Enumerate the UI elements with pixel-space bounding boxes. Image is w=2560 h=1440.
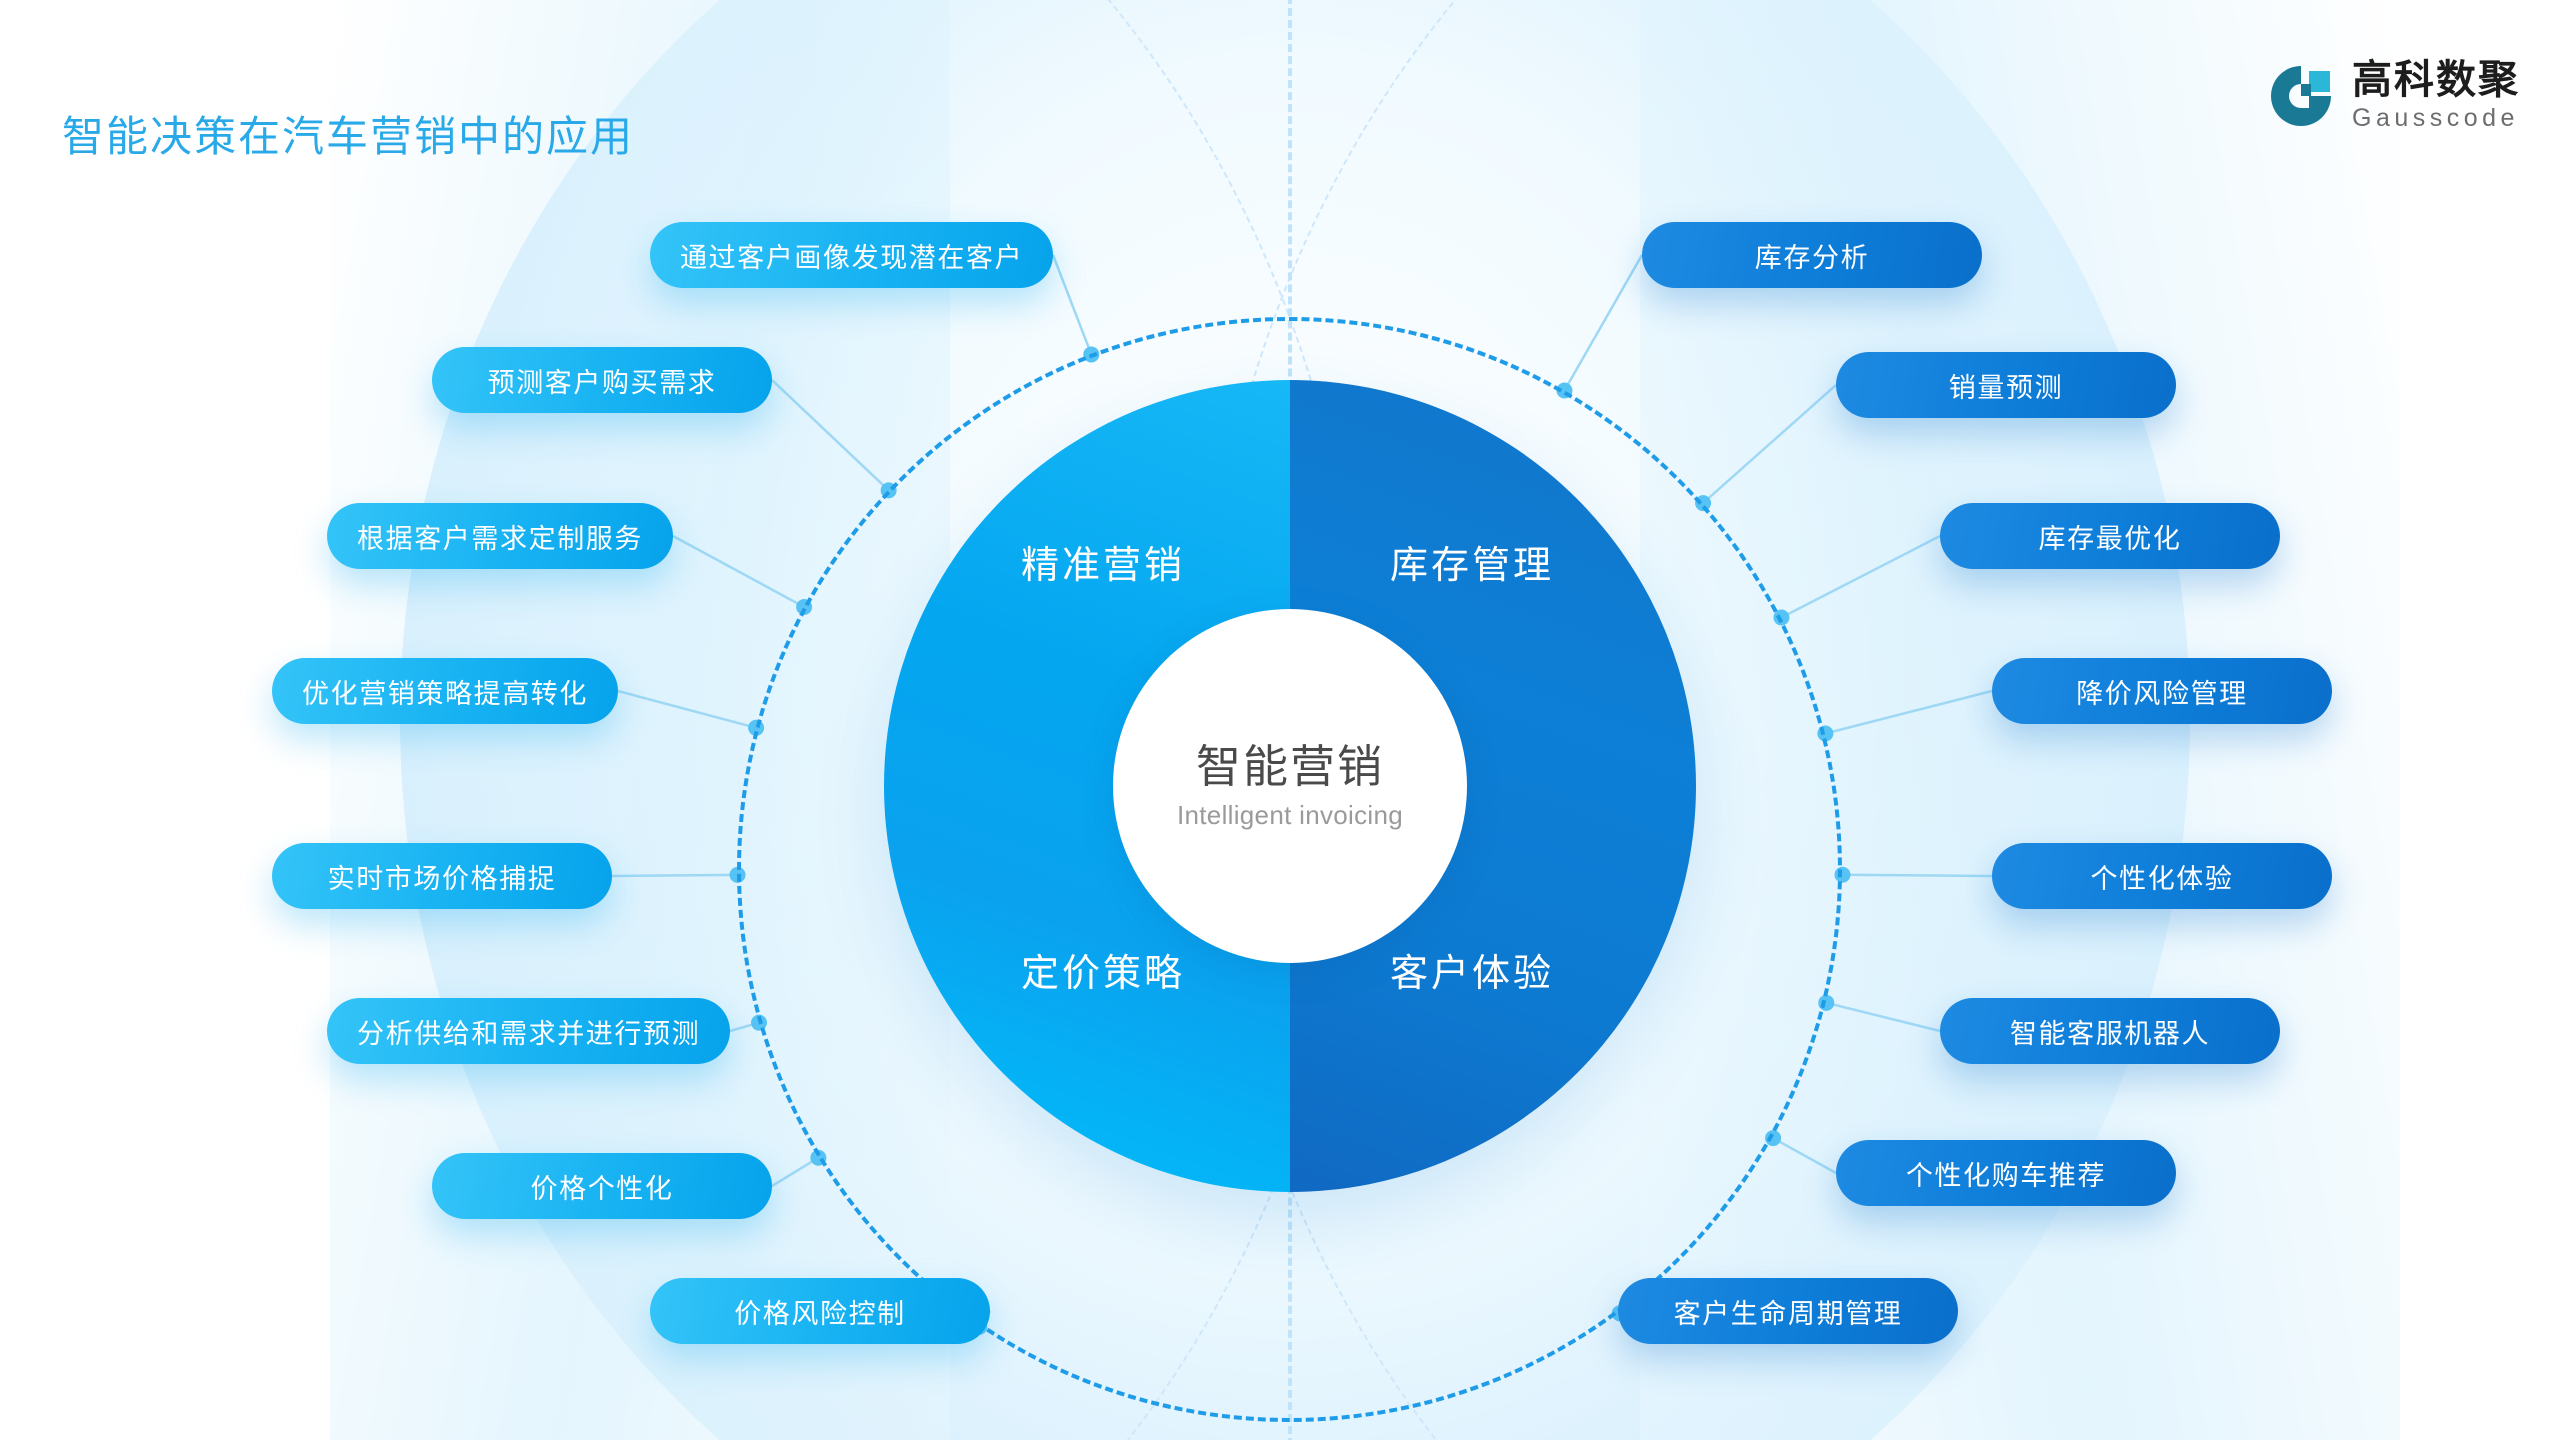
connector-line [618,691,756,728]
left-label-pill[interactable]: 分析供给和需求并进行预测 [327,998,730,1064]
pill-label: 库存分析 [1755,236,1869,275]
left-label-pill[interactable]: 根据客户需求定制服务 [327,503,673,569]
connector-line [1703,385,1836,503]
right-label-pill[interactable]: 库存分析 [1642,222,1982,288]
connector-line [612,875,738,876]
center-hub: 智能营销 Intelligent invoicing [1113,609,1467,963]
pill-label: 个性化体验 [2091,857,2234,896]
pill-label: 根据客户需求定制服务 [357,517,643,556]
connector-line [1842,875,1992,876]
pill-label: 实时市场价格捕捉 [328,857,557,896]
logo-name-en: Gausscode [2352,106,2520,131]
logo-text-block: 高科数聚 Gausscode [2352,60,2520,131]
quadrant-label-pricing-strategy: 定价策略 [1021,942,1185,997]
pill-label: 预测客户购买需求 [488,361,717,400]
pill-label: 价格个性化 [531,1167,674,1206]
pill-label: 个性化购车推荐 [1906,1154,2106,1193]
connector-line [1564,255,1642,390]
pill-label: 客户生命周期管理 [1674,1292,1903,1331]
connector-line [1053,255,1091,354]
quadrant-label-inventory-management: 库存管理 [1390,534,1554,589]
pill-label: 智能客服机器人 [2010,1012,2210,1051]
pill-label: 库存最优化 [2039,517,2182,556]
pill-label: 优化营销策略提高转化 [302,672,588,711]
quadrant-label-precision-marketing: 精准营销 [1021,534,1185,589]
pill-label: 降价风险管理 [2076,672,2248,711]
logo-name-cn: 高科数聚 [2352,60,2520,100]
pill-label: 通过客户画像发现潜在客户 [680,236,1023,275]
left-label-pill[interactable]: 价格风险控制 [650,1278,990,1344]
pill-label: 分析供给和需求并进行预测 [357,1012,700,1051]
brand-logo: 高科数聚 Gausscode [2268,60,2520,131]
connector-line [1825,691,1992,733]
right-label-pill[interactable]: 销量预测 [1836,352,2176,418]
left-label-pill[interactable]: 优化营销策略提高转化 [272,658,618,724]
right-label-pill[interactable]: 个性化体验 [1992,843,2332,909]
gausscode-logo-icon [2268,63,2334,129]
pill-label: 价格风险控制 [734,1292,906,1331]
left-label-pill[interactable]: 通过客户画像发现潜在客户 [650,222,1053,288]
right-label-pill[interactable]: 个性化购车推荐 [1836,1140,2176,1206]
connector-line [673,536,804,607]
connector-line [772,380,889,490]
pill-label: 销量预测 [1949,366,2063,405]
center-subtitle: Intelligent invoicing [1177,800,1403,831]
connector-line [1773,1138,1836,1173]
right-label-pill[interactable]: 库存最优化 [1940,503,2280,569]
left-label-pill[interactable]: 预测客户购买需求 [432,347,772,413]
connector-line [772,1158,818,1186]
connector-line [1781,536,1940,617]
connector-line [1826,1003,1940,1031]
left-label-pill[interactable]: 实时市场价格捕捉 [272,843,612,909]
slide-canvas: 智能决策在汽车营销中的应用 高科数聚 Gausscode 精准营销 库存管理 定… [0,0,2560,1440]
right-label-pill[interactable]: 智能客服机器人 [1940,998,2280,1064]
connector-line [730,1023,759,1031]
left-label-pill[interactable]: 价格个性化 [432,1153,772,1219]
center-title: 智能营销 [1196,741,1384,793]
right-label-pill[interactable]: 降价风险管理 [1992,658,2332,724]
quadrant-label-customer-experience: 客户体验 [1390,942,1554,997]
page-title: 智能决策在汽车营销中的应用 [62,103,634,164]
right-label-pill[interactable]: 客户生命周期管理 [1618,1278,1958,1344]
